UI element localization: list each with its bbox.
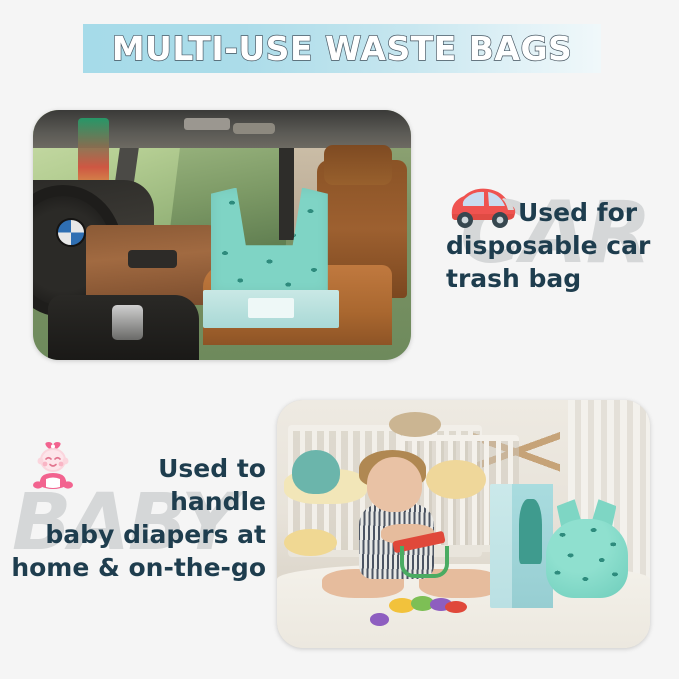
product-bag-pattern-nursery (546, 519, 628, 598)
product-box-artwork (519, 499, 541, 563)
baby-nursery-photo (277, 400, 650, 648)
baby-photo-content (277, 400, 650, 648)
nursery-plush-toy-2 (426, 460, 486, 500)
car-headrest (324, 145, 392, 185)
baby-toy-ring (400, 546, 449, 577)
page-title: MULTI-USE WASTE BAGS (112, 29, 573, 68)
nursery-banana-cushion (284, 529, 336, 556)
car-grab-handle (233, 123, 275, 134)
car-gear-shifter (112, 305, 142, 340)
baby-feature-line-3: home & on-the-go (10, 551, 266, 584)
car-feature-line-3: trash bag (446, 262, 668, 295)
baby-feature-line-2: baby diapers at (10, 518, 266, 551)
car-feature-line-2: disposable car (446, 229, 668, 262)
car-door-handle (128, 250, 177, 268)
title-banner: MULTI-USE WASTE BAGS (83, 24, 601, 73)
baby-head (367, 457, 423, 512)
floor-toy-purple-2 (370, 613, 389, 625)
feature-baby: BABY Used to handle baby diapers at home… (10, 452, 266, 584)
car-roof-lamp (184, 118, 229, 131)
nursery-plush-toy (292, 450, 340, 495)
car-brand-logo (56, 218, 86, 247)
product-box-label-car (248, 298, 293, 318)
car-photo-content (33, 110, 411, 360)
feature-car: CAR Used for disposable car trash bag (446, 196, 668, 295)
car-interior-photo (33, 110, 411, 360)
pink-baby-icon (30, 440, 76, 492)
infographic-page: MULTI-USE WASTE BAGS (0, 0, 679, 679)
red-car-icon (446, 184, 518, 230)
